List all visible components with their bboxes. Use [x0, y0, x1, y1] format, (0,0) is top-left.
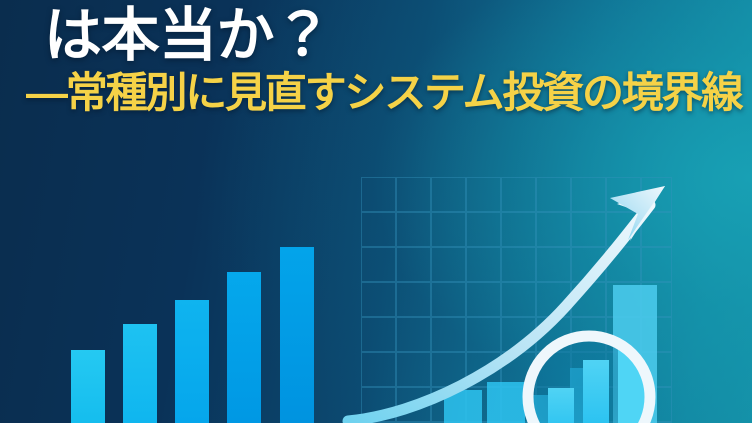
panel-bar-2	[487, 382, 525, 423]
bar-2	[123, 324, 157, 423]
magnified-bar-1	[548, 388, 574, 423]
bar-1	[71, 350, 105, 423]
page-subtitle: ―常種別に見直すシステム投資の境界線	[26, 70, 742, 115]
bar-4	[227, 272, 261, 423]
bar-3	[175, 300, 209, 423]
thumbnail-canvas: は本当か？ ―常種別に見直すシステム投資の境界線	[0, 0, 752, 423]
page-title: は本当か？	[44, 6, 742, 66]
bar-5	[280, 247, 314, 423]
magnifying-glass	[528, 336, 650, 423]
foreground-bar-group	[71, 247, 314, 423]
magnified-bar-2	[583, 360, 609, 423]
headline-block: は本当か？ ―常種別に見直すシステム投資の境界線	[0, 0, 752, 116]
